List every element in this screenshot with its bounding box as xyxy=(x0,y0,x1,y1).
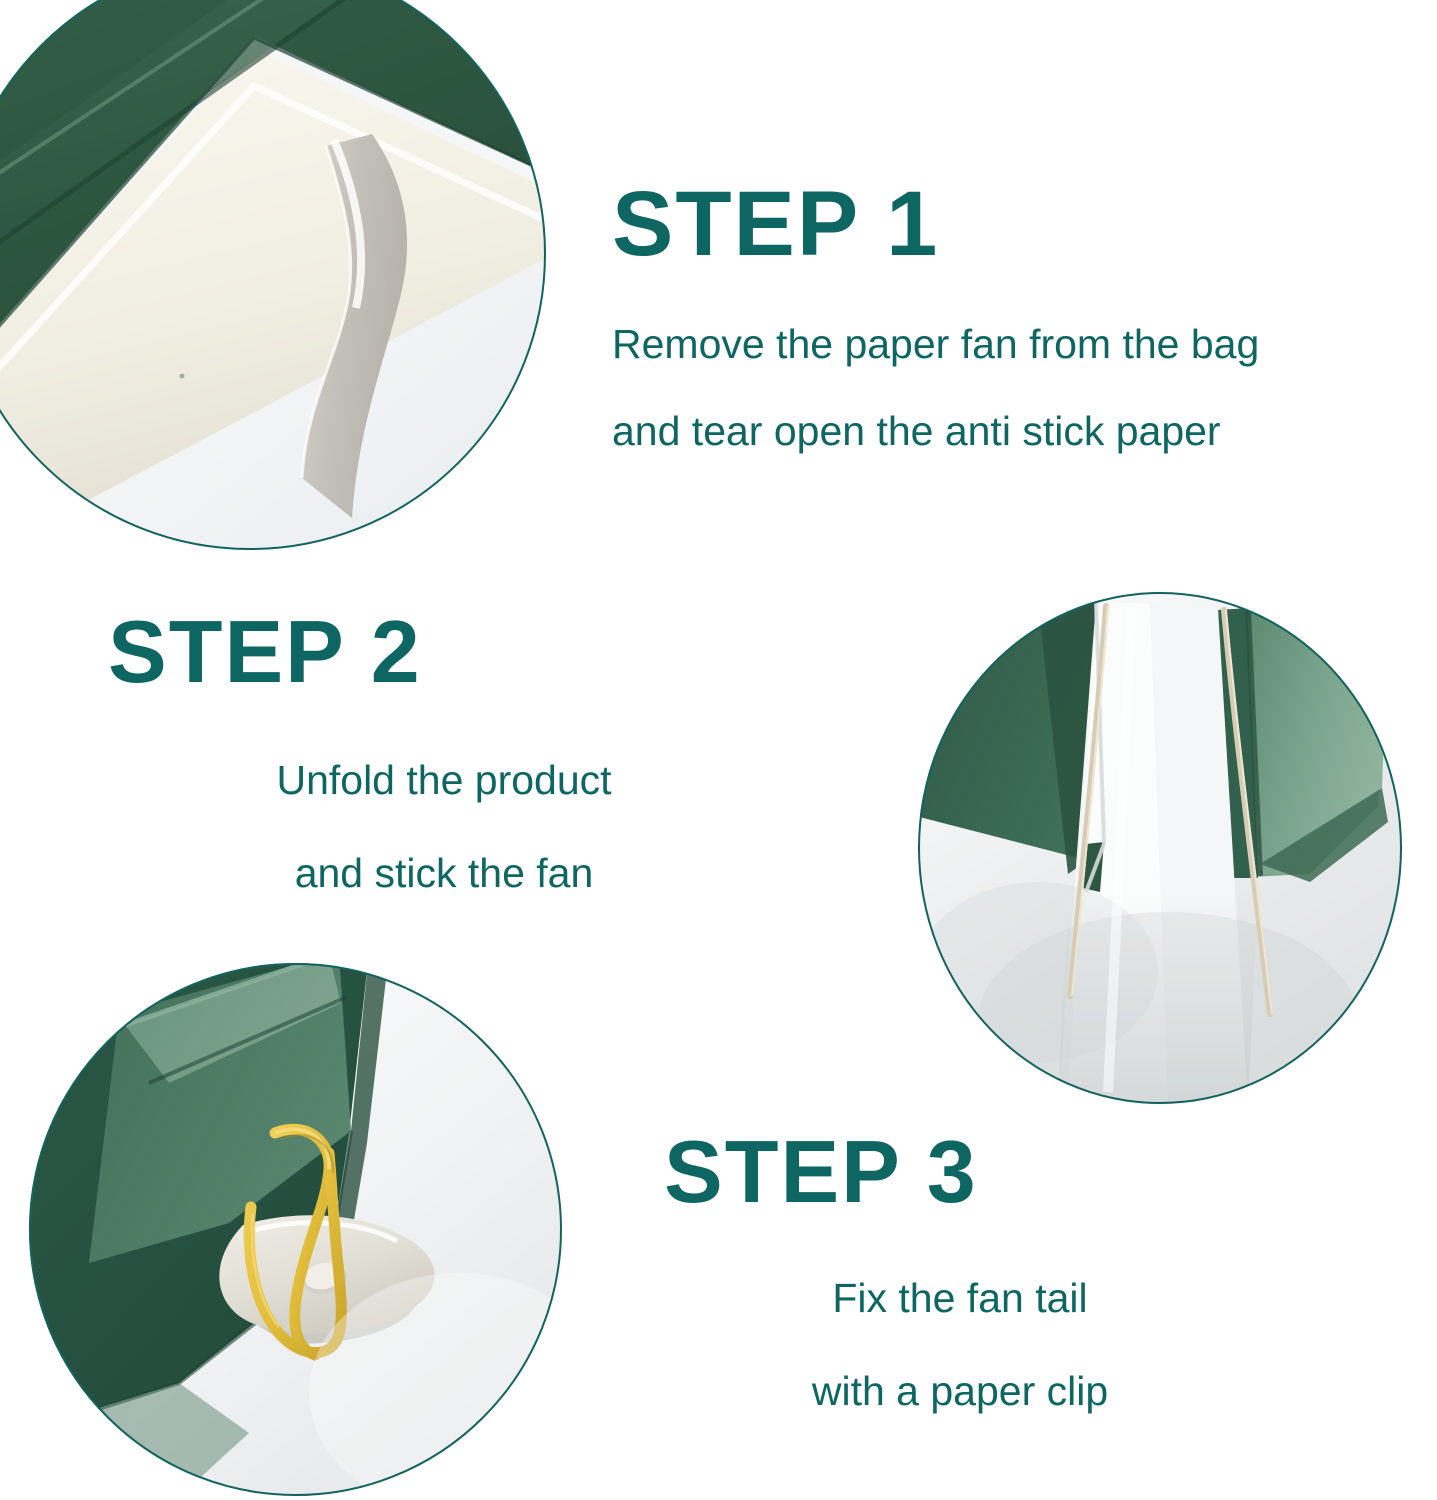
step-1-photo-art xyxy=(0,0,546,550)
step-2-text-block: STEP 2 Unfold the product and stick the … xyxy=(104,608,784,894)
step-1-photo xyxy=(0,0,546,550)
step-2-photo-art xyxy=(918,592,1402,1104)
step-2-photo xyxy=(918,592,1402,1104)
step-1-title: STEP 1 xyxy=(612,178,1259,270)
step-3-title: STEP 3 xyxy=(660,1128,1260,1216)
instruction-graphic-canvas: STEP 1 Remove the paper fan from the bag… xyxy=(0,0,1437,1500)
step-1-line-2: and tear open the anti stick paper xyxy=(612,411,1259,452)
step-3-photo xyxy=(29,963,562,1496)
step-1-line-1: Remove the paper fan from the bag xyxy=(612,324,1259,365)
step-2-line-2: and stick the fan xyxy=(104,853,784,894)
step-3-text-block: STEP 3 Fix the fan tail with a paper cli… xyxy=(660,1128,1260,1412)
step-2-title: STEP 2 xyxy=(104,608,784,696)
step-2-line-1: Unfold the product xyxy=(104,760,784,801)
step-1-text-block: STEP 1 Remove the paper fan from the bag… xyxy=(612,178,1259,452)
step-3-line-1: Fix the fan tail xyxy=(660,1278,1260,1319)
step-3-photo-art xyxy=(29,963,562,1496)
step-3-line-2: with a paper clip xyxy=(660,1371,1260,1412)
